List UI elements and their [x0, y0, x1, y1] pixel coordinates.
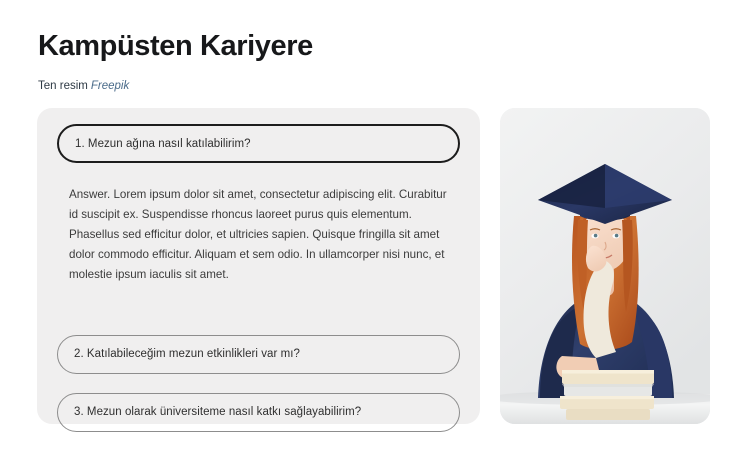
accordion-item-2: 2. Katılabileceğim mezun etkinlikleri va…: [57, 335, 460, 374]
accordion-header-1[interactable]: 1. Mezun ağına nasıl katılabilirim?: [57, 124, 460, 163]
page-title: Kampüsten Kariyere: [38, 30, 313, 63]
accordion-question-3: 3. Mezun olarak üniversiteme nasıl katkı…: [74, 406, 361, 418]
accordion-item-1: 1. Mezun ağına nasıl katılabilirim? Answ…: [57, 124, 460, 285]
image-credit-link[interactable]: Freepik: [91, 80, 129, 92]
panel-spacer-mid: [57, 374, 460, 393]
accordion-question-2: 2. Katılabileceğim mezun etkinlikleri va…: [74, 348, 300, 360]
panel-spacer-top: [57, 285, 460, 335]
accordion-header-2[interactable]: 2. Katılabileceğim mezun etkinlikleri va…: [57, 335, 460, 374]
graduate-photo: [500, 108, 710, 424]
accordion-body-1: Answer. Lorem ipsum dolor sit amet, cons…: [57, 163, 460, 285]
accordion-question-1: 1. Mezun ağına nasıl katılabilirim?: [75, 138, 251, 150]
image-credit-label: Ten resim: [38, 80, 88, 92]
accordion-item-3: 3. Mezun olarak üniversiteme nasıl katkı…: [57, 393, 460, 432]
graduate-photo-illustration: [500, 108, 710, 424]
faq-panel: 1. Mezun ağına nasıl katılabilirim? Answ…: [37, 108, 480, 424]
accordion-answer-1: Answer. Lorem ipsum dolor sit amet, cons…: [69, 185, 450, 285]
image-credit: Ten resimFreepik: [38, 80, 129, 92]
accordion-header-3[interactable]: 3. Mezun olarak üniversiteme nasıl katkı…: [57, 393, 460, 432]
